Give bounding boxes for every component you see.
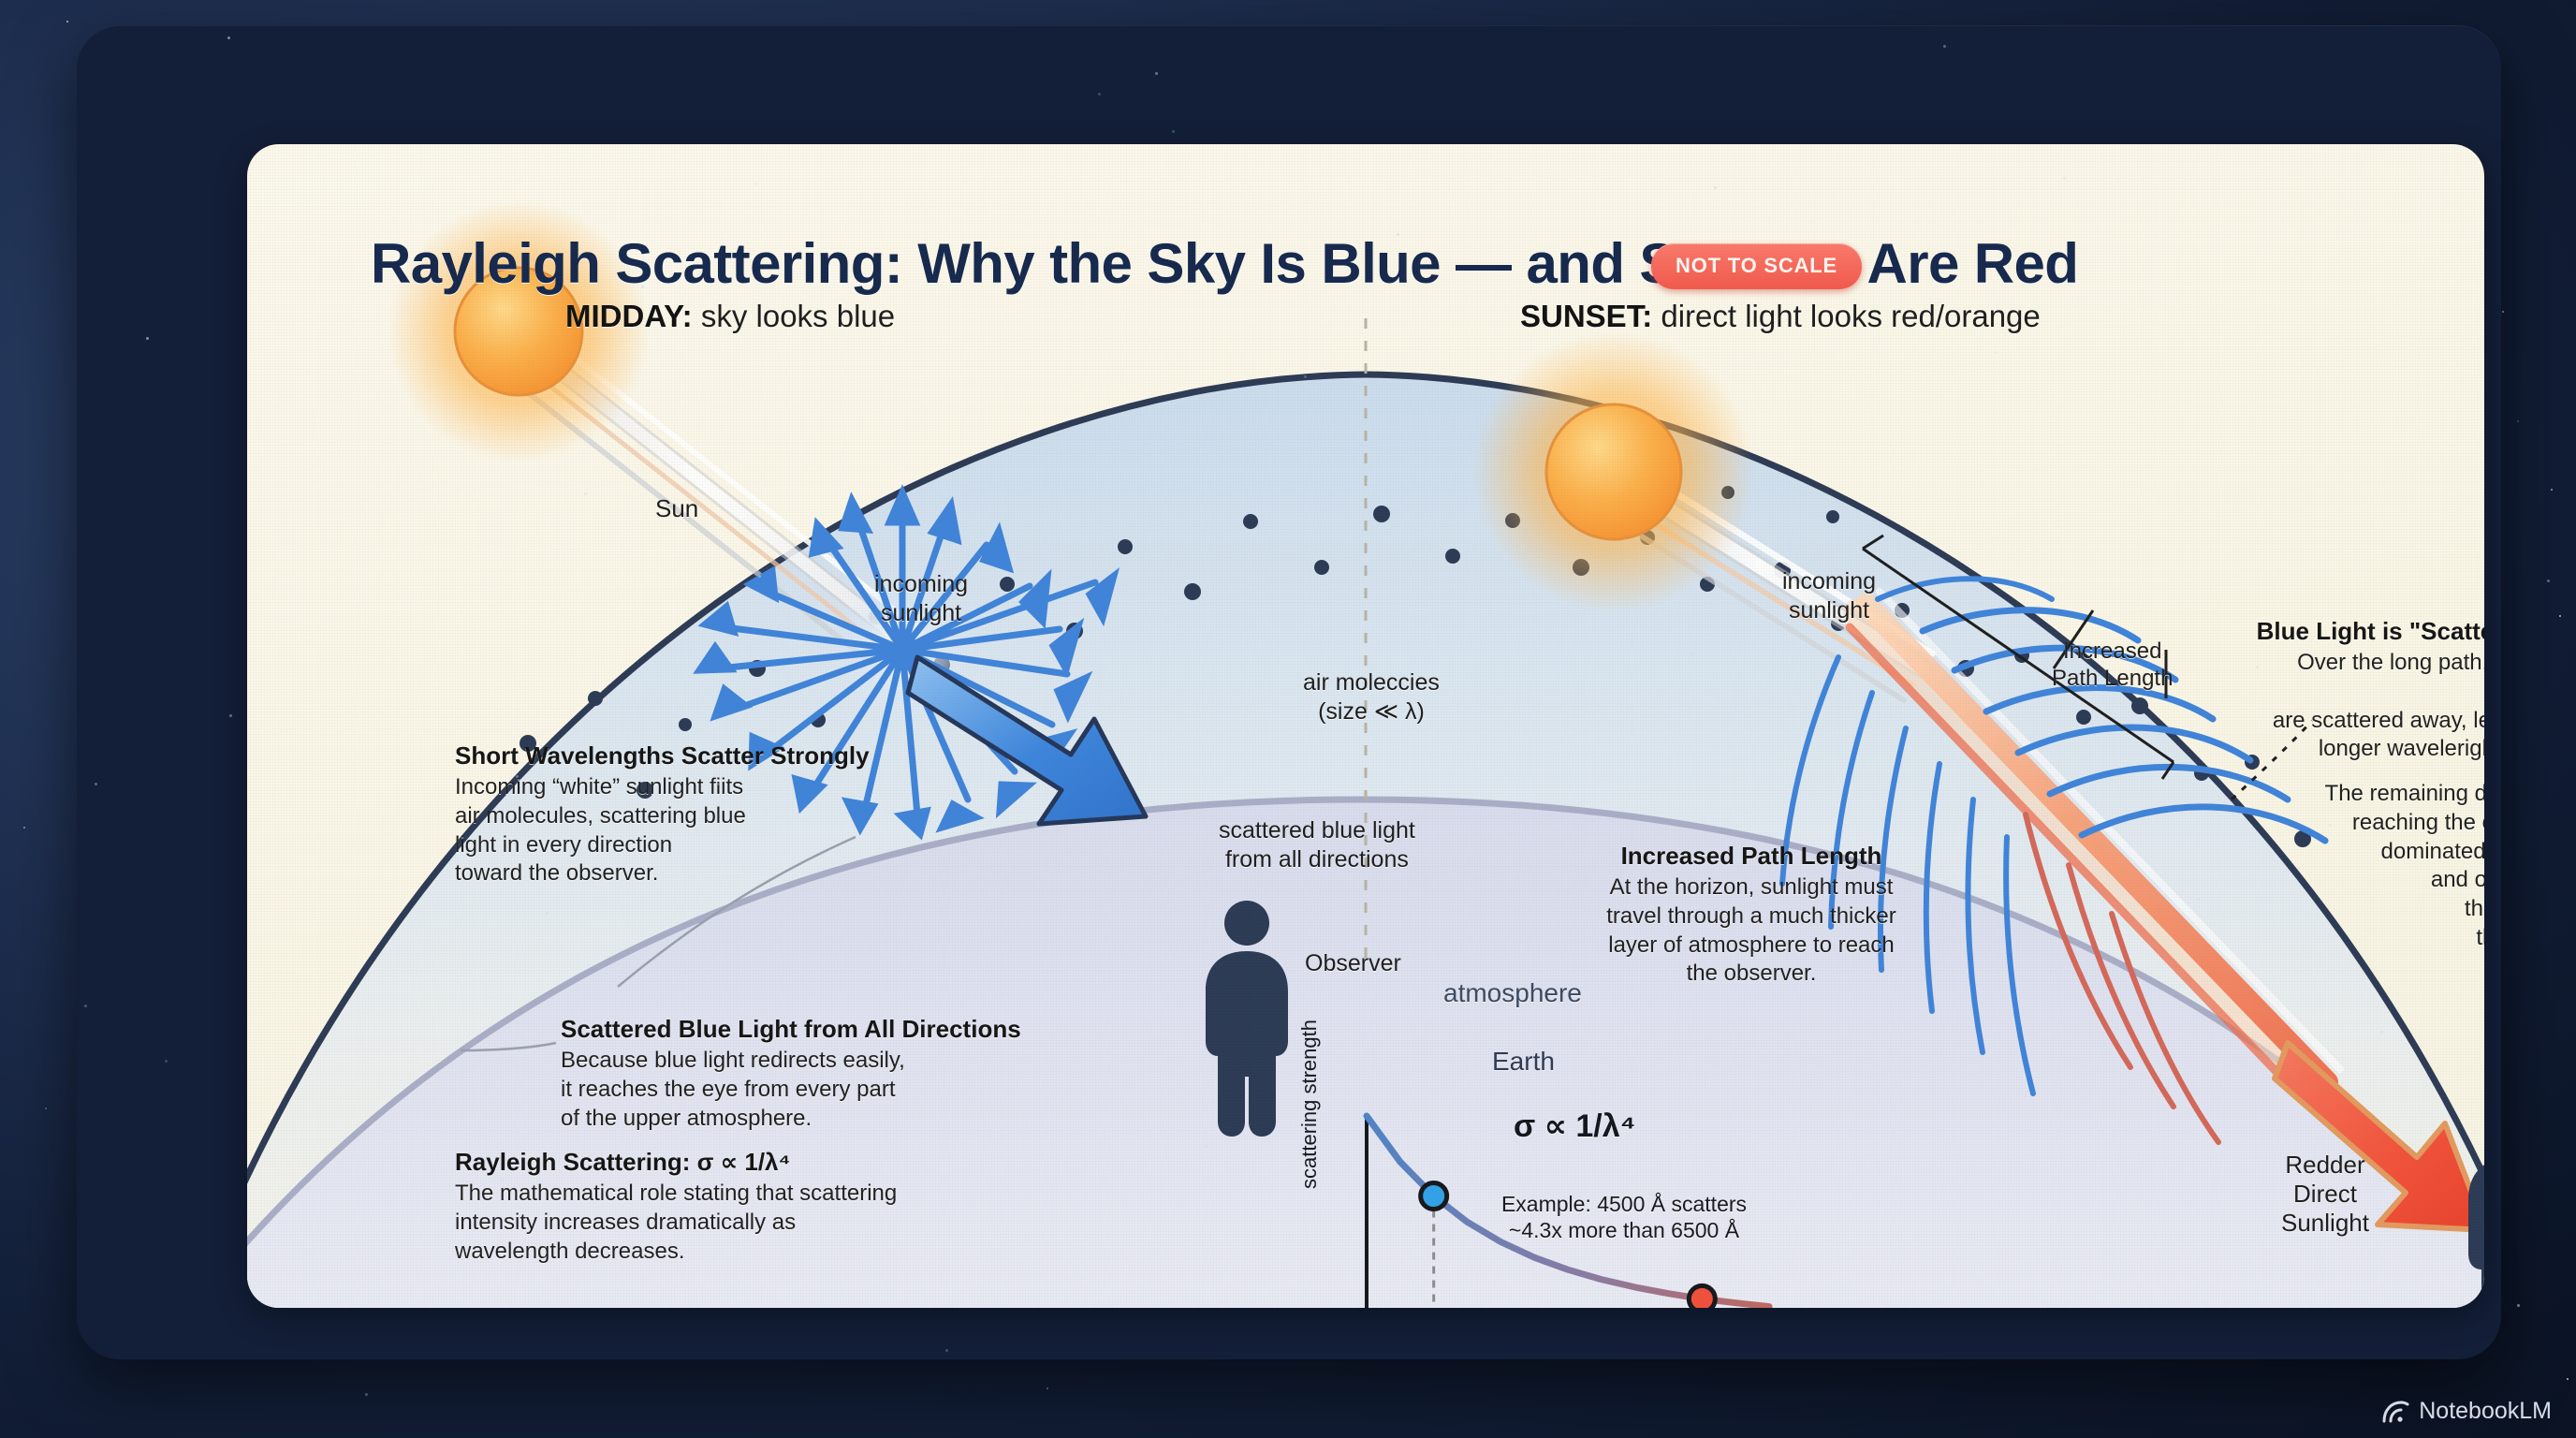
- sun-sunset: [1473, 331, 1754, 612]
- star: [365, 1393, 368, 1396]
- star: [23, 827, 25, 829]
- infographic-poster: Rayleigh Scattering: Why the Sky Is Blue…: [247, 144, 2484, 1308]
- star: [2517, 1304, 2520, 1307]
- label-incoming-sunlight-left: incoming sunlight: [874, 570, 968, 627]
- callout-increased-path-length: Increased Path Length At the horizon, su…: [1583, 842, 1920, 989]
- scene-heading-midday-rest: sky looks blue: [693, 299, 895, 333]
- chart-title: σ ∝ 1/λ⁴: [1514, 1108, 1635, 1145]
- star: [2517, 420, 2519, 422]
- star: [1098, 93, 1101, 95]
- star: [2551, 489, 2553, 491]
- not-to-scale-badge: NOT TO SCALE: [1651, 243, 1862, 289]
- callout-rayleigh-law: Rayleigh Scattering: σ ∝ 1/λ⁴ The mathem…: [455, 1148, 932, 1266]
- label-atmosphere: atmosphere: [1443, 977, 1582, 1009]
- label-redder-direct-sunlight: Redder Direct Sunlight: [2281, 1151, 2369, 1239]
- chart-annotation: Example: 4500 Å scatters ~4.3x more than…: [1470, 1191, 1778, 1243]
- notebooklm-watermark: NotebookLM: [2381, 1398, 2552, 1425]
- label-air-molecules: air moleccies (size ≪ λ): [1303, 668, 1440, 726]
- callout-all-directions: Scattered Blue Light from All Directions…: [561, 1015, 1047, 1133]
- scene-heading-midday: MIDDAY: sky looks blue: [565, 299, 895, 334]
- callout-short-wavelengths-body: Incoming “white” sunlight fiits air mole…: [455, 773, 895, 888]
- star: [1155, 72, 1158, 75]
- chart-y-axis-label: scattering strength: [1297, 1020, 1322, 1189]
- star: [2380, 1031, 2383, 1034]
- star: [945, 1349, 948, 1352]
- label-increased-path-length: Increased Path Length: [2052, 638, 2173, 693]
- star: [516, 775, 519, 778]
- star: [1180, 633, 1183, 636]
- label-sun: Sun: [655, 494, 698, 524]
- callout-increased-path-length-body: At the horizon, sunlight must travel thr…: [1583, 873, 1920, 989]
- star: [95, 783, 97, 785]
- label-scattered-blue-light: scattered blue light from all directions: [1219, 816, 1415, 873]
- label-observer: Observer: [1305, 949, 1401, 978]
- callout-increased-path-length-heading: Increased Path Length: [1583, 842, 1920, 871]
- callout-short-wavelengths-heading: Short Wavelengths Scatter Strongly: [455, 741, 895, 770]
- star: [146, 337, 149, 340]
- scene-heading-sunset: SUNSET: direct light looks red/orange: [1520, 299, 2041, 334]
- star: [2547, 580, 2550, 582]
- callout-all-directions-body: Because blue light redirects easily, it …: [561, 1047, 1047, 1133]
- callout-scattered-out-body2: The remaining direct beam reaching the o…: [2236, 780, 2484, 952]
- star: [1172, 130, 1175, 133]
- star: [84, 1005, 87, 1007]
- star: [2502, 311, 2504, 313]
- star: [1397, 233, 1399, 236]
- callout-rayleigh-law-heading: Rayleigh Scattering: σ ∝ 1/λ⁴: [455, 1148, 932, 1177]
- star: [500, 1179, 503, 1181]
- notebooklm-watermark-text: NotebookLM: [2419, 1398, 2552, 1425]
- rayleigh-inset-chart: σ ∝ 1/λ⁴ Example: 4500 Å scatters ~4.3x …: [1303, 1099, 1790, 1308]
- star: [1290, 421, 1293, 424]
- star: [638, 1220, 641, 1223]
- star: [584, 492, 587, 495]
- callout-short-wavelengths: Short Wavelengths Scatter Strongly Incom…: [455, 741, 895, 888]
- scene-heading-midday-strong: MIDDAY:: [565, 299, 693, 333]
- label-earth: Earth: [1492, 1046, 1555, 1078]
- notebooklm-logo-icon: [2381, 1400, 2409, 1424]
- star: [656, 1005, 659, 1008]
- label-incoming-sunlight-right: incoming sunlight: [1782, 567, 1876, 624]
- callout-rayleigh-law-body: The mathematical role stating that scatt…: [455, 1180, 932, 1266]
- star: [165, 1060, 168, 1063]
- star: [527, 414, 530, 417]
- poster-bezel: Rayleigh Scattering: Why the Sky Is Blue…: [77, 25, 2501, 1359]
- star: [1943, 45, 1946, 48]
- star: [229, 714, 232, 717]
- star: [2567, 1378, 2569, 1380]
- scene-heading-sunset-rest: direct light looks red/orange: [1652, 299, 2041, 333]
- star: [2256, 666, 2259, 668]
- star: [754, 183, 757, 185]
- star: [227, 37, 230, 39]
- callout-all-directions-heading: Scattered Blue Light from All Directions: [561, 1015, 1047, 1044]
- star: [1714, 186, 1717, 189]
- star: [2559, 615, 2561, 617]
- star: [758, 575, 761, 578]
- star: [66, 21, 68, 22]
- scene-heading-sunset-strong: SUNSET:: [1520, 299, 1652, 333]
- star: [717, 783, 720, 785]
- callout-scattered-out-heading: Blue Light is "Scattered Out": [2236, 617, 2484, 646]
- star: [1046, 1387, 1048, 1389]
- callout-scattered-out: Blue Light is "Scattered Out" Over the l…: [2236, 617, 2484, 952]
- callout-scattered-out-body: Over the long path, most blue photons ar…: [2236, 649, 2484, 764]
- screenshot-root: Rayleigh Scattering: Why the Sky Is Blue…: [0, 0, 2576, 1438]
- star: [45, 1108, 47, 1109]
- star: [546, 912, 549, 915]
- star: [799, 907, 802, 910]
